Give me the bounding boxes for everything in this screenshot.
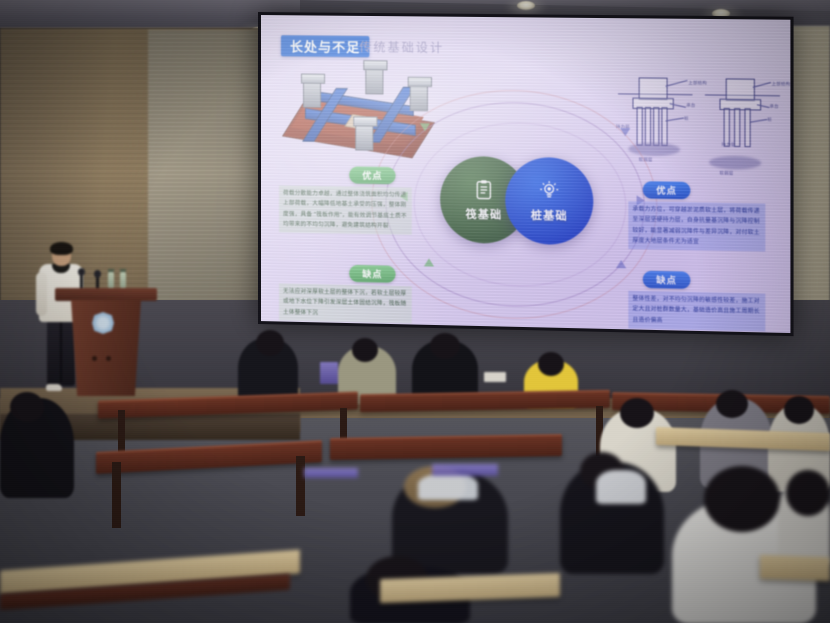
lightbulb-icon	[538, 179, 561, 202]
pill-disadvantage-left: 缺点	[349, 265, 395, 283]
text-advantage-left: 荷载分散能力卓越，通过整体浇筑面积均匀传递上部荷载，大幅降低地基土承受的压强，整…	[279, 185, 412, 235]
water-bottle	[108, 272, 114, 289]
text-advantage-right: 承载力方位，可穿越淤泥质软土层，将荷载传递至深层坚硬持力层，自身抗量基沉降与沉降…	[628, 201, 765, 252]
water-bottle	[120, 272, 126, 289]
concept-venn-diagram: 筏基础 桩基础	[434, 135, 618, 272]
concept-label-pile: 桩基础	[531, 206, 568, 223]
pill-advantage-right: 优点	[643, 181, 691, 199]
podium	[62, 288, 150, 400]
slide-subtitle: 传统基础设计	[359, 38, 444, 56]
marker-triangle-icon	[616, 260, 626, 268]
pill-advantage-left: 优点	[349, 166, 395, 184]
projection-screen: 长处与不足 传统基础设计	[258, 12, 794, 336]
lecture-hall-photo: 长处与不足 传统基础设计	[0, 0, 830, 623]
desk-row	[330, 434, 562, 460]
marker-triangle-icon	[420, 123, 430, 131]
marker-triangle-icon	[424, 258, 434, 266]
bottle-cap	[120, 269, 126, 272]
concept-label-raft: 筏基础	[466, 205, 503, 222]
downlight-icon	[517, 1, 535, 10]
text-disadvantage-left: 无法应对深厚软土层的整体下沉，若软土层较厚或地下水位下降引发深层土体固结沉降，筏…	[279, 283, 412, 323]
university-emblem-icon	[92, 312, 114, 334]
pill-disadvantage-right: 缺点	[643, 271, 691, 289]
microphone-icon	[94, 270, 101, 278]
concept-circle-pile: 桩基础	[505, 157, 593, 246]
clipboard-icon	[473, 178, 495, 201]
desk-row	[760, 555, 830, 581]
slide-title-badge: 长处与不足	[281, 35, 369, 57]
text-disadvantage-right: 整体性差，对不均匀沉降的敏感性较差，施工对定大且对桩群数量大，基础造价高且施工周…	[628, 291, 765, 332]
marker-triangle-icon	[620, 128, 630, 136]
microphone-icon	[78, 268, 85, 276]
bottle-cap	[108, 269, 114, 272]
pile-foundation-cross-section-diagram: 上部结构 承台 桩 持力层 软弱层	[624, 61, 780, 169]
